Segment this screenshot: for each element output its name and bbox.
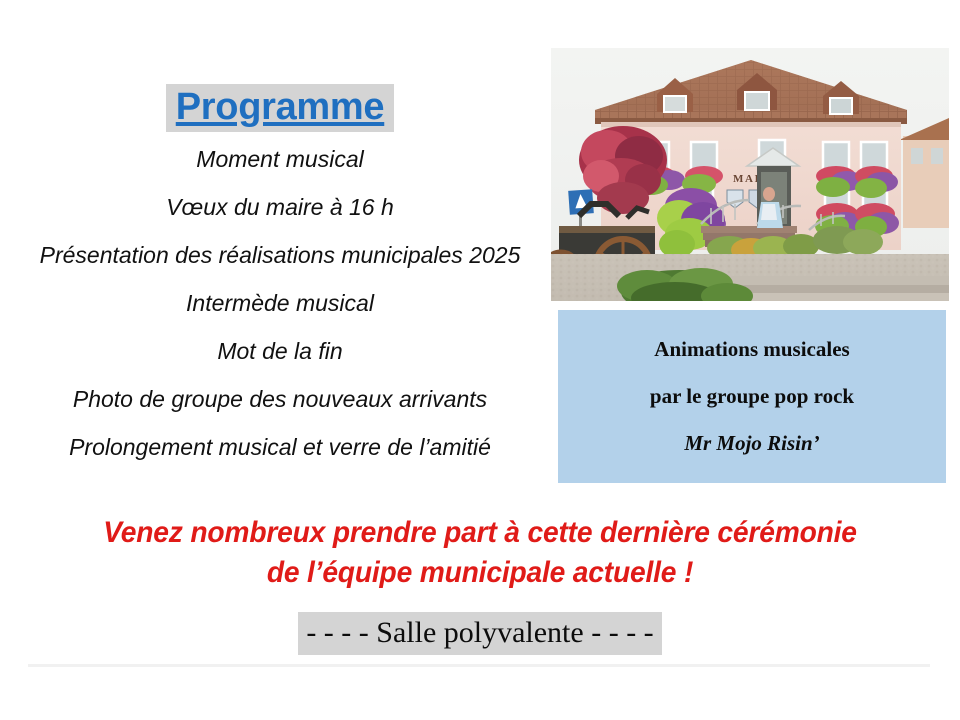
- programme-column: Programme Moment musical Vœux du maire à…: [0, 84, 560, 461]
- programme-item: Mot de la fin: [0, 338, 560, 365]
- programme-item: Intermède musical: [0, 290, 560, 317]
- call-to-action-line-1: Venez nombreux prendre part à cette dern…: [29, 513, 931, 553]
- page-title: Programme: [166, 84, 395, 132]
- slide-canvas: Programme Moment musical Vœux du maire à…: [0, 0, 960, 720]
- call-to-action: Venez nombreux prendre part à cette dern…: [0, 513, 960, 593]
- animation-box: Animations musicales par le groupe pop r…: [558, 310, 946, 483]
- programme-item: Présentation des réalisations municipale…: [0, 242, 560, 269]
- footer-divider: [28, 664, 930, 667]
- venue-label: - - - - Salle polyvalente - - - -: [298, 612, 661, 655]
- call-to-action-line-2: de l’équipe municipale actuelle !: [29, 553, 931, 593]
- mairie-photo: MAIRIE: [551, 48, 949, 301]
- animation-line-1: Animations musicales: [654, 337, 849, 362]
- venue-container: - - - - Salle polyvalente - - - -: [0, 612, 960, 655]
- programme-item: Photo de groupe des nouveaux arrivants: [0, 386, 560, 413]
- programme-item: Moment musical: [0, 146, 560, 173]
- programme-item: Vœux du maire à 16 h: [0, 194, 560, 221]
- programme-title-container: Programme: [0, 84, 560, 132]
- animation-line-2: par le groupe pop rock: [650, 384, 854, 409]
- programme-item: Prolongement musical et verre de l’amiti…: [0, 434, 560, 461]
- band-name: Mr Mojo Risin’: [684, 431, 819, 456]
